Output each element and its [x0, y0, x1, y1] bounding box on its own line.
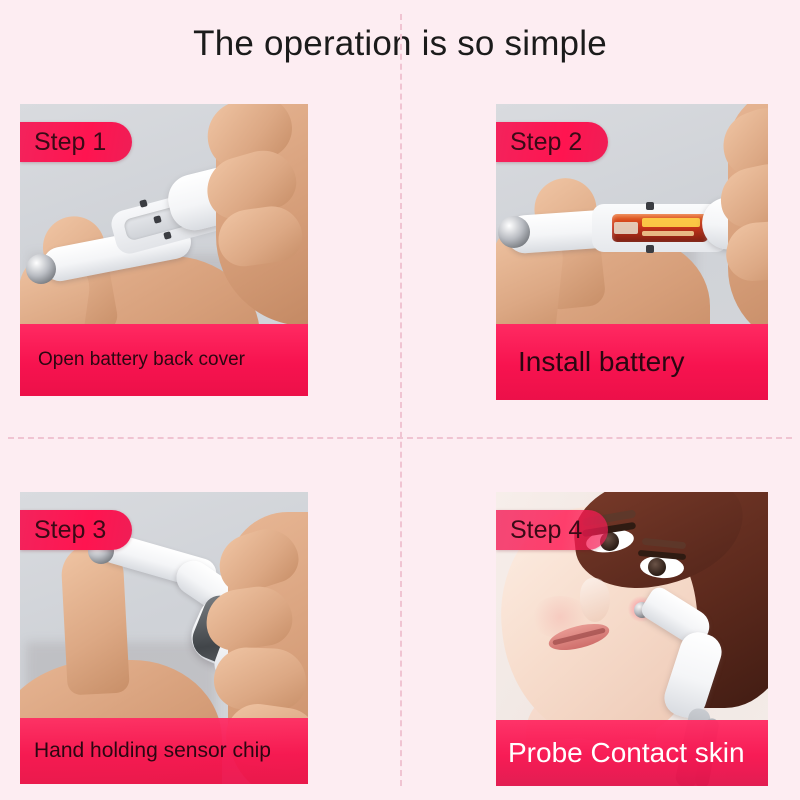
step-3-caption: Hand holding sensor chip: [20, 718, 308, 784]
step-4-caption: Probe Contact skin: [496, 720, 768, 786]
step-1-caption: Open battery back cover: [20, 324, 308, 396]
vertical-divider: [400, 14, 402, 786]
step-panel-4[interactable]: Step 4 Probe Contact skin: [496, 492, 768, 786]
step-panel-2[interactable]: Step 2 Install battery: [496, 104, 768, 400]
step-2-caption: Install battery: [496, 324, 768, 400]
step-panel-1[interactable]: Step 1 Open battery back cover: [20, 104, 308, 396]
step-panel-3[interactable]: Step 3 Hand holding sensor chip: [20, 492, 308, 784]
step-4-badge: Step 4: [496, 510, 608, 550]
step-1-badge: Step 1: [20, 122, 132, 162]
step-2-badge: Step 2: [496, 122, 608, 162]
step-3-badge: Step 3: [20, 510, 132, 550]
